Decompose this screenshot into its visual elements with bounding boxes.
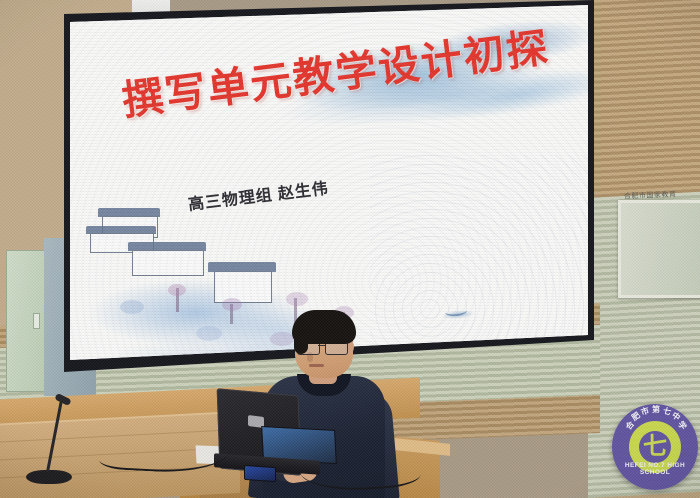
school-emblem: 七 [612, 404, 698, 490]
door-handle [33, 313, 40, 329]
presenter-hair [292, 310, 356, 344]
wall-sign-board [618, 200, 700, 298]
glasses-bridge [318, 345, 325, 346]
lecture-room-photo: 合肥市国家教育 [0, 0, 700, 498]
slide-surface: 撰写单元教学设计初探 高三物理组 赵生伟 [70, 5, 588, 360]
emblem-mark-icon: 七 [643, 435, 667, 459]
phone-device[interactable] [244, 465, 276, 482]
emblem-en-text: HEFEI NO.7 HIGH SCHOOL [612, 462, 698, 476]
microphone-base [26, 470, 72, 484]
presenter-mouth [309, 364, 324, 367]
wall-right-upper [588, 0, 700, 198]
presentation-screen[interactable]: 撰写单元教学设计初探 高三物理组 赵生伟 [70, 5, 588, 360]
